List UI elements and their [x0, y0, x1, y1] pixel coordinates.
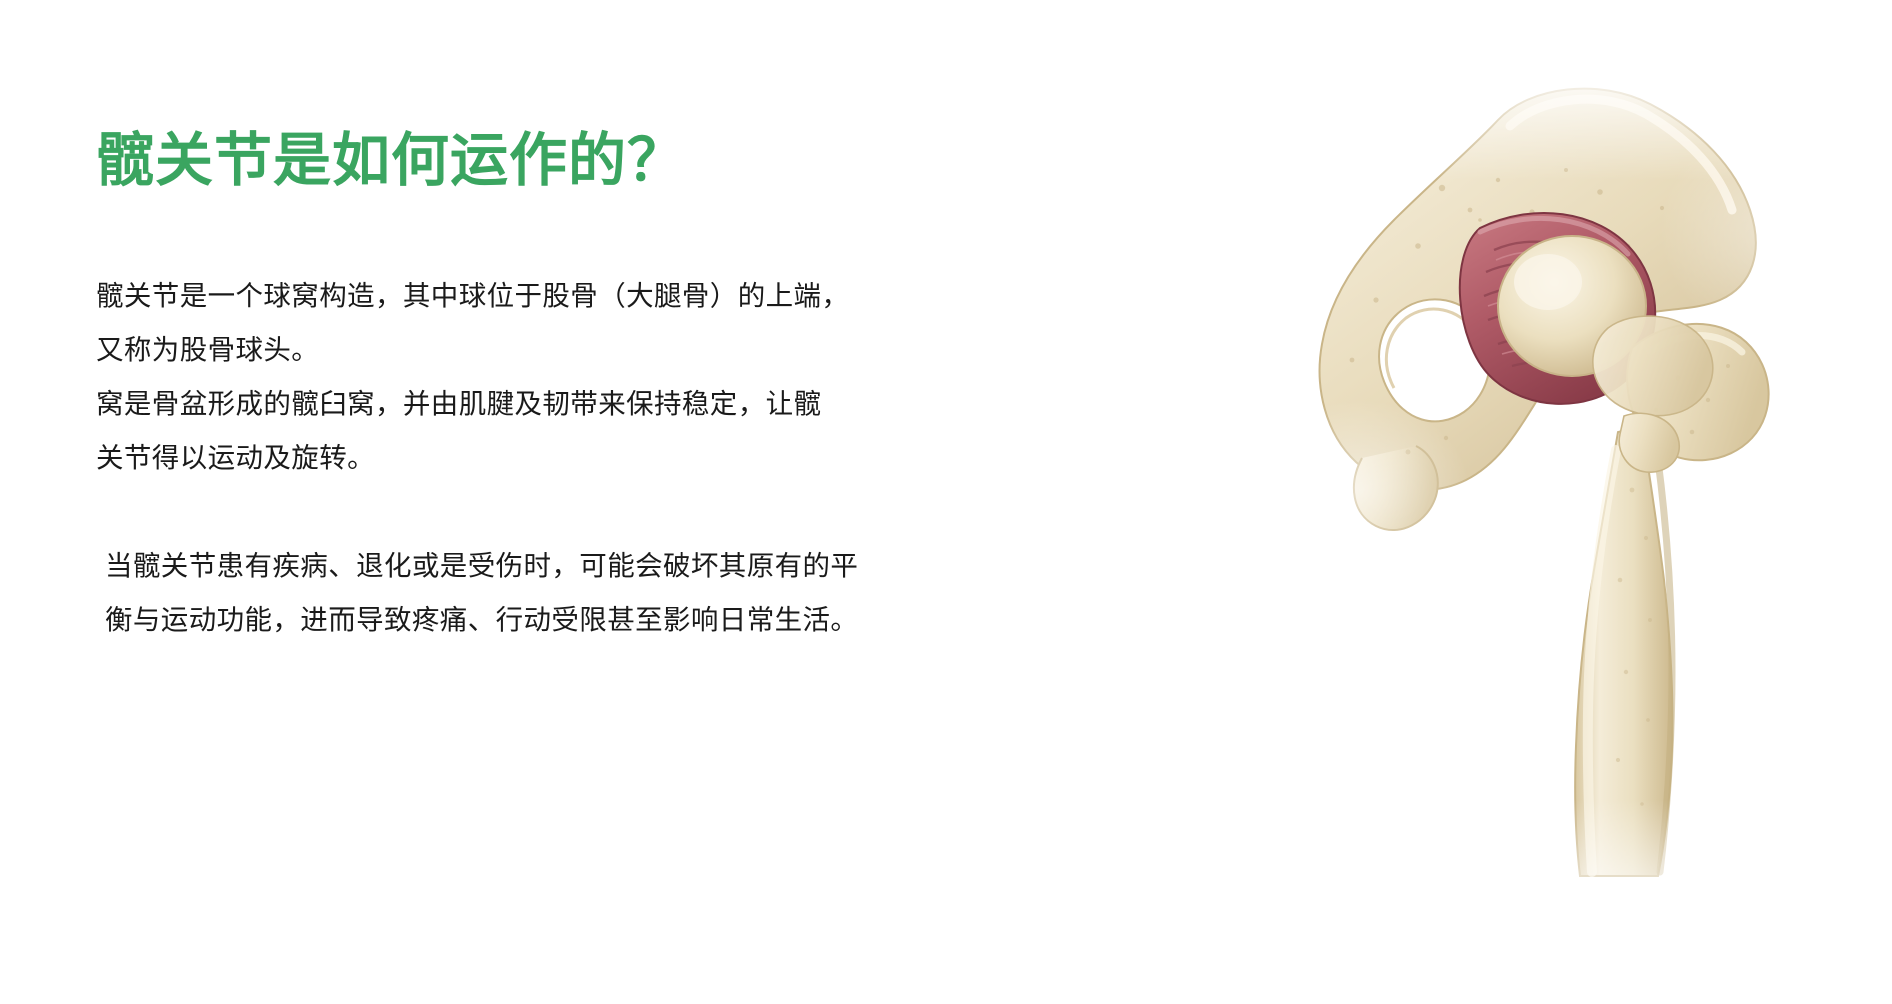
paragraph-1-line-2: 又称为股骨球头。	[96, 323, 1106, 377]
paragraph-1-line-3: 窝是骨盆形成的髋臼窝，并由肌腱及韧带来保持稳定，让髋	[96, 377, 1106, 431]
body-text-block: 髋关节是一个球窝构造，其中球位于股骨（大腿骨）的上端， 又称为股骨球头。 窝是骨…	[96, 269, 1106, 647]
paragraph-1-line-1: 髋关节是一个球窝构造，其中球位于股骨（大腿骨）的上端，	[96, 269, 1106, 323]
femoral-neck	[1593, 316, 1713, 416]
paragraph-2-line-1: 当髋关节患有疾病、退化或是受伤时，可能会破坏其原有的平	[105, 539, 1106, 593]
paragraph-1-line-4: 关节得以运动及旋转。	[96, 431, 1106, 485]
paragraph-2: 当髋关节患有疾病、退化或是受伤时，可能会破坏其原有的平 衡与运动功能，进而导致疼…	[96, 539, 1106, 647]
page-title: 髋关节是如何运作的？	[96, 128, 1106, 195]
slide-root: 髋关节是如何运作的？ 髋关节是一个球窝构造，其中球位于股骨（大腿骨）的上端， 又…	[0, 0, 1892, 1004]
paragraph-2-line-2: 衡与运动功能，进而导致疼痛、行动受限甚至影响日常生活。	[105, 593, 1106, 647]
hip-joint-anatomy-illustration	[1180, 60, 1880, 940]
text-content-column: 髋关节是如何运作的？ 髋关节是一个球窝构造，其中球位于股骨（大腿骨）的上端， 又…	[96, 128, 1106, 647]
paragraph-1: 髋关节是一个球窝构造，其中球位于股骨（大腿骨）的上端， 又称为股骨球头。 窝是骨…	[96, 269, 1106, 485]
